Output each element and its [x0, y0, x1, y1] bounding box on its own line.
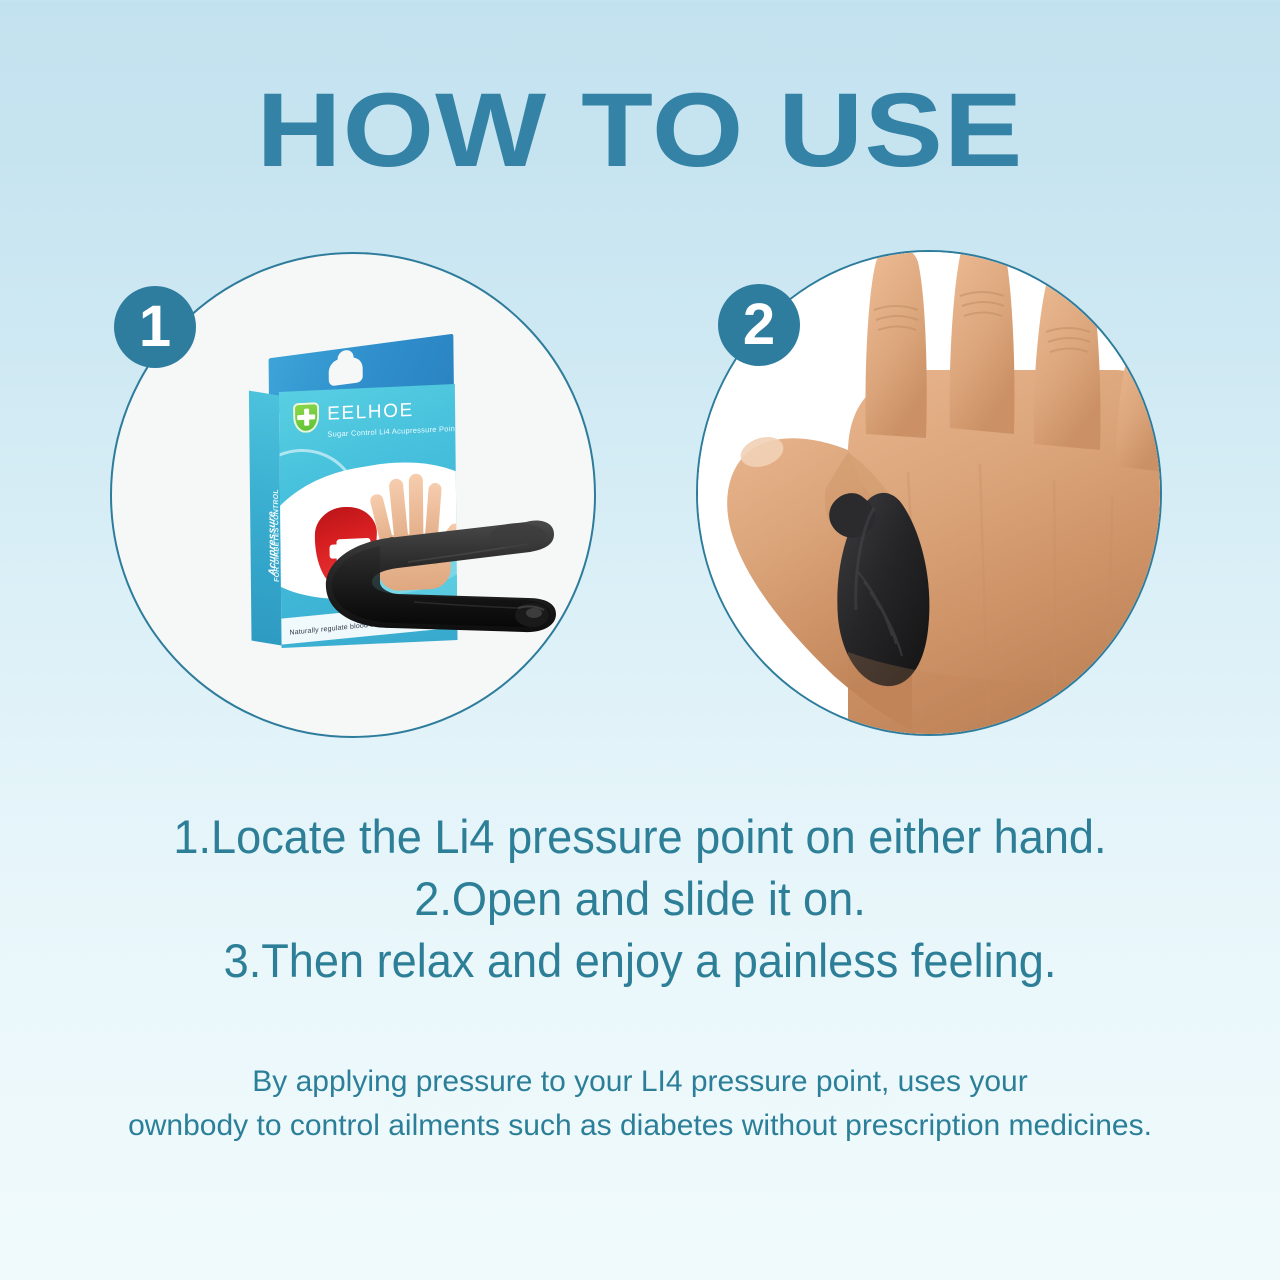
instruction-line-2: 2.Open and slide it on. [26, 868, 1255, 930]
acupressure-clip-device [318, 516, 560, 644]
step-2-number-badge: 2 [718, 284, 800, 366]
step-1-number-badge: 1 [114, 286, 196, 368]
instruction-line-3: 3.Then relax and enjoy a painless feelin… [26, 930, 1255, 992]
green-shield-cross-icon [293, 402, 319, 433]
footer-line-2: ownbody to control ailments such as diab… [0, 1104, 1280, 1148]
package-spine: Acupressure FOR DIABETES CONTROL [249, 391, 282, 646]
package-subtitle: Sugar Control Li4 Acupressure Point Clip [327, 423, 457, 439]
package-brand-name: EELHOE [327, 400, 414, 426]
package-hang-hole [329, 356, 363, 387]
instructions-list: 1.Locate the Li4 pressure point on eithe… [26, 806, 1255, 992]
footer-description: By applying pressure to your LI4 pressur… [0, 1060, 1280, 1148]
footer-line-1: By applying pressure to your LI4 pressur… [0, 1060, 1280, 1104]
instruction-line-1: 1.Locate the Li4 pressure point on eithe… [26, 806, 1255, 868]
steps-section: Acupressure FOR DIABETES CONTROL EELHOE … [0, 0, 1280, 760]
